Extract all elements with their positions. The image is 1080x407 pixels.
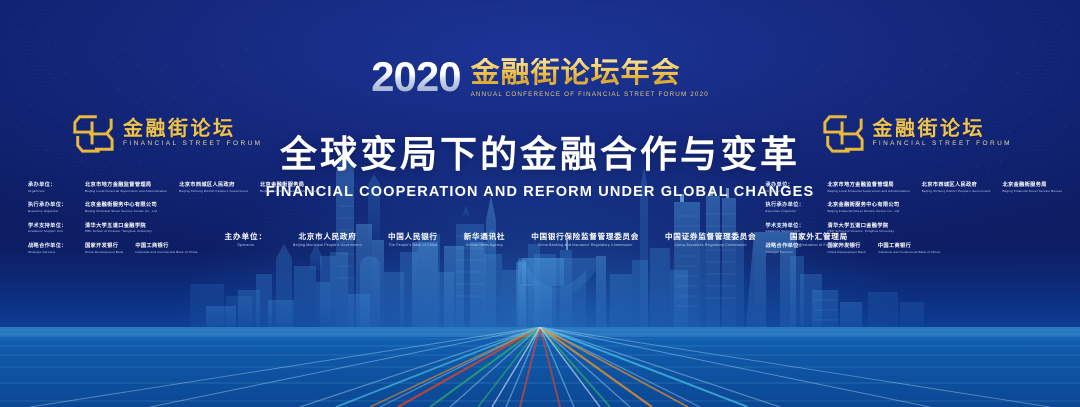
masthead-year: 2020 bbox=[371, 56, 460, 98]
credit-unit: 北京市地方金融监督管理局Beijing Local Financial Supe… bbox=[827, 182, 909, 193]
sponsor-unit-name-cn: 新华通讯社 bbox=[464, 232, 505, 241]
credit-row: 承办单位：Organizers北京市地方金融监督管理局Beijing Local… bbox=[28, 182, 320, 193]
masthead: 2020 金融街论坛年会 ANNUAL CONFERENCE OF FINANC… bbox=[0, 56, 1080, 98]
sponsor-unit-name-cn: 国家外汇管理局 bbox=[790, 232, 848, 241]
credit-unit: 北京金融街服务局Beijing Financial Street Service… bbox=[260, 182, 320, 193]
credit-row-label: 承办单位：Organizers bbox=[28, 182, 75, 193]
sponsor-unit-name-cn: 中国银行保险监督管理委员会 bbox=[531, 232, 639, 241]
sponsors-label-cn: 主办单位： bbox=[225, 232, 267, 241]
sponsor-unit-name-cn: 中国人民银行 bbox=[388, 232, 438, 241]
credit-unit-name-en: China Development Bank bbox=[85, 251, 123, 255]
credit-row-label: 执行承办单位：Executive Organizer bbox=[28, 202, 75, 213]
credit-unit-name-en: Beijing Xicheng District People's Govern… bbox=[179, 190, 248, 194]
sponsor-unit-name-en: China Securities Regulatory Commission bbox=[675, 243, 747, 247]
credit-unit-name-en: Executive Organizer bbox=[28, 210, 75, 214]
credit-row-units: 北京市地方金融监督管理局Beijing Local Financial Supe… bbox=[827, 182, 1062, 193]
credit-unit-name-en: Beijing Local Financial Supervision and … bbox=[85, 190, 167, 194]
credit-unit-name-en: Strategic Partners bbox=[28, 251, 75, 255]
sponsor-unit: 新华通讯社Xinhua News Agency bbox=[464, 232, 505, 247]
credit-unit: 执行承办单位：Executive Organizer bbox=[28, 202, 75, 213]
credit-unit-name-cn: 北京市西城区人民政府 bbox=[179, 182, 248, 189]
sponsor-unit-name-en: Beijing Municipal People's Government bbox=[293, 243, 362, 247]
credit-unit-name-cn: 北京市西城区人民政府 bbox=[922, 182, 991, 189]
conference-backdrop-banner: 金融街论坛 FINANCIAL STREET FORUM 金融街论坛 FINAN… bbox=[0, 0, 1080, 407]
credit-row-units: 北京金融街服务中心有限公司Beijing Financial Street Se… bbox=[827, 202, 900, 213]
credit-unit-name-cn: 北京市地方金融监督管理局 bbox=[827, 182, 909, 189]
credit-unit: 北京金融街服务局Beijing Financial Street Service… bbox=[1002, 182, 1062, 193]
sponsor-unit: 北京市人民政府Beijing Municipal People's Govern… bbox=[293, 232, 362, 247]
sponsor-unit: 中国证券监督管理委员会China Securities Regulatory C… bbox=[665, 232, 756, 247]
credit-row-label: 执行承办单位：Executive Organizer bbox=[765, 202, 817, 213]
credit-unit-name-cn: 承办单位： bbox=[765, 182, 817, 189]
credit-unit: 承办单位：Organizers bbox=[28, 182, 75, 193]
sponsor-unit-name-en: The People's Bank of China bbox=[388, 243, 437, 247]
sponsor-unit: 中国银行保险监督管理委员会China Banking and Insurance… bbox=[531, 232, 639, 247]
credit-row: 执行承办单位：Executive Organizer北京金融街服务中心有限公司B… bbox=[28, 202, 320, 213]
credit-unit-name-cn: 执行承办单位： bbox=[28, 202, 75, 209]
credit-unit-name-cn: 北京金融街服务中心有限公司 bbox=[85, 202, 158, 209]
sponsors-label: 主办单位：Sponsors bbox=[225, 232, 267, 247]
credit-row: 承办单位：Organizers北京市地方金融监督管理局Beijing Local… bbox=[765, 182, 1062, 193]
credit-unit-name-en: Industrial and Commercial Bank of China bbox=[135, 251, 197, 255]
sponsor-unit-name-cn: 中国证券监督管理委员会 bbox=[665, 232, 756, 241]
credit-unit-name-en: Beijing Financial Street Service Bureau bbox=[1002, 190, 1062, 194]
credit-unit-name-en: Beijing Financial Street Service Bureau bbox=[260, 190, 320, 194]
credit-unit-name-en: Beijing Xicheng District People's Govern… bbox=[922, 190, 991, 194]
sponsors-row: 主办单位：Sponsors北京市人民政府Beijing Municipal Pe… bbox=[0, 232, 1080, 247]
credit-row-label: 承办单位：Organizers bbox=[765, 182, 817, 193]
credit-unit: 北京金融街服务中心有限公司Beijing Financial Street Se… bbox=[827, 202, 900, 213]
perspective-light-rays-icon bbox=[0, 327, 1080, 407]
credit-unit-name-cn: 北京金融街服务局 bbox=[260, 182, 320, 189]
sponsor-unit-name-cn: 北京市人民政府 bbox=[298, 232, 356, 241]
credit-unit-name-cn: 北京金融街服务局 bbox=[1002, 182, 1062, 189]
credit-unit-name-en: Beijing Local Financial Supervision and … bbox=[827, 190, 909, 194]
credit-unit-name-cn: 承办单位： bbox=[28, 182, 75, 189]
credit-unit-name-en: China Development Bank bbox=[827, 251, 865, 255]
sponsor-unit: 国家外汇管理局State Administration of Foreign E… bbox=[782, 232, 855, 247]
credit-unit: 承办单位：Organizers bbox=[765, 182, 817, 193]
credit-unit-name-en: Beijing Financial Street Service Center … bbox=[85, 210, 158, 214]
credit-unit-name-en: Organizers bbox=[28, 190, 75, 194]
sponsor-unit-name-en: Xinhua News Agency bbox=[466, 243, 503, 247]
sponsor-unit-name-en: China Banking and Insurance Regulatory C… bbox=[538, 243, 633, 247]
credit-unit-name-en: Executive Organizer bbox=[765, 210, 817, 214]
credit-row-units: 北京市地方金融监督管理局Beijing Local Financial Supe… bbox=[85, 182, 320, 193]
credit-row: 执行承办单位：Executive Organizer北京金融街服务中心有限公司B… bbox=[765, 202, 1062, 213]
masthead-title-cn: 金融街论坛年会 bbox=[471, 58, 681, 88]
credit-unit-name-cn: 北京市地方金融监督管理局 bbox=[85, 182, 167, 189]
credit-unit: 北京市地方金融监督管理局Beijing Local Financial Supe… bbox=[85, 182, 167, 193]
credit-unit-name-en: Beijing Financial Street Service Center … bbox=[827, 210, 900, 214]
credit-unit-name-en: Organizers bbox=[765, 190, 817, 194]
credit-row-units: 北京金融街服务中心有限公司Beijing Financial Street Se… bbox=[85, 202, 158, 213]
credit-unit: 北京市西城区人民政府Beijing Xicheng District Peopl… bbox=[179, 182, 248, 193]
sponsors-label-en: Sponsors bbox=[238, 243, 255, 247]
sponsor-unit-name-en: State Administration of Foreign Exchange bbox=[782, 243, 855, 247]
credit-unit-name-en: Strategic Partners bbox=[765, 251, 817, 255]
theme-title-cn: 全球变局下的金融合作与变革 bbox=[0, 134, 1080, 177]
masthead-title-en: ANNUAL CONFERENCE OF FINANCIAL STREET FO… bbox=[471, 91, 709, 98]
credit-unit-name-en: Industrial and Commercial Bank of China bbox=[878, 251, 940, 255]
credit-unit: 执行承办单位：Executive Organizer bbox=[765, 202, 817, 213]
credit-unit-name-cn: 执行承办单位： bbox=[765, 202, 817, 209]
sponsor-unit: 中国人民银行The People's Bank of China bbox=[388, 232, 438, 247]
credit-unit: 北京金融街服务中心有限公司Beijing Financial Street Se… bbox=[85, 202, 158, 213]
credit-unit: 北京市西城区人民政府Beijing Xicheng District Peopl… bbox=[922, 182, 991, 193]
credit-unit-name-cn: 北京金融街服务中心有限公司 bbox=[827, 202, 900, 209]
